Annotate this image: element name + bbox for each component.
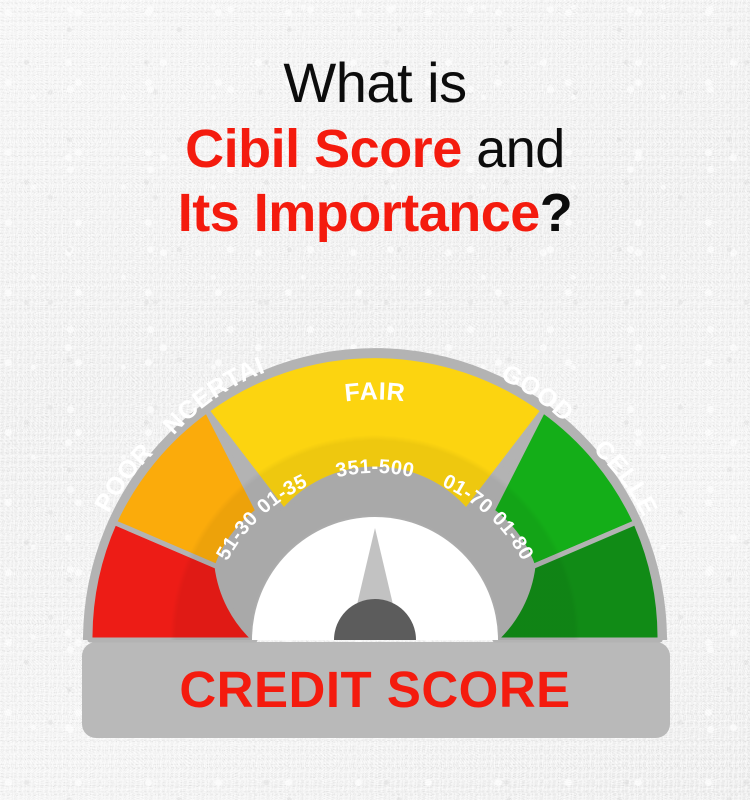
headline-line-1: What is	[0, 52, 750, 115]
poster-canvas: What is Cibil Score and Its Importance?	[0, 0, 750, 800]
credit-score-gauge: POOR 251-300 UNCERTAIN 301-350 FAIR 351-…	[0, 330, 750, 760]
headline-line-3-red: Its Importance	[178, 183, 540, 243]
headline-line-2-black: and	[462, 119, 565, 179]
page-title: What is Cibil Score and Its Importance?	[0, 52, 750, 244]
headline-line-2-red: Cibil Score	[185, 119, 462, 179]
gauge-svg: POOR 251-300 UNCERTAIN 301-350 FAIR 351-…	[0, 330, 750, 760]
headline-line-3: Its Importance?	[0, 183, 750, 243]
segment-label-fair-text: FAIR	[343, 377, 406, 407]
credit-score-banner-label: CREDIT SCORE	[179, 661, 570, 718]
headline-line-2: Cibil Score and	[0, 119, 750, 179]
headline-line-3-black: ?	[540, 183, 573, 243]
segment-label-fair: FAIR	[343, 377, 406, 407]
